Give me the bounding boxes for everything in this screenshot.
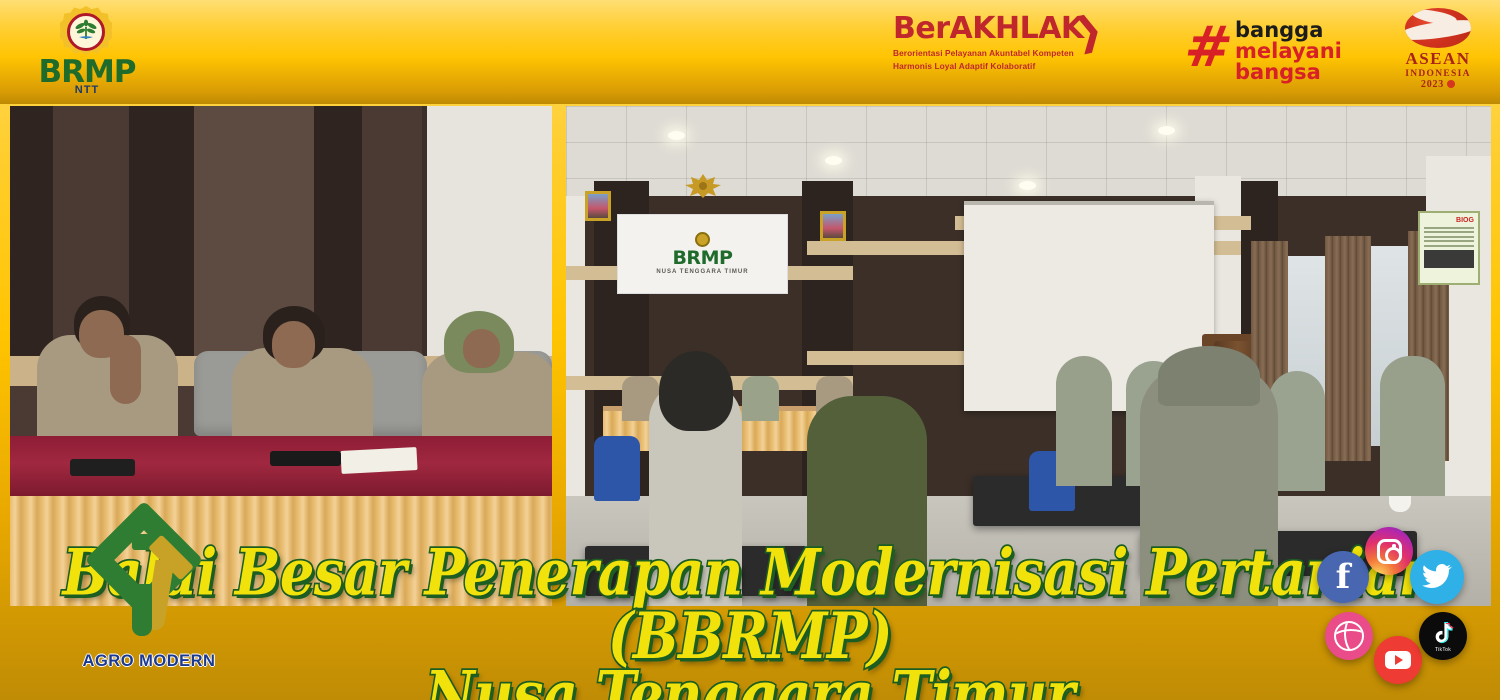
person-female-official-speaking [232,306,373,446]
documents [340,447,417,473]
asean-indonesia-logo: ASEAN INDONESIA 2023 [1388,8,1488,98]
berakhlak-ber: Ber [893,11,950,46]
phone-on-table [70,459,135,477]
head-table-person-3 [742,376,779,421]
bangga-line1: bangga [1235,20,1342,41]
person-female-official-hijab [422,311,552,446]
dribbble-glyph [1334,621,1364,651]
berakhlak-logo: BerAKHLAK ❯ Berorientasi Pelayanan Akunt… [893,12,1103,92]
person-male-official [37,296,178,446]
banner-subtitle: NUSA TENGGARA TIMUR [656,269,748,275]
asean-name: ASEAN [1388,49,1488,69]
curtain-2 [1325,236,1371,461]
foreground-person-cap-hat [1158,346,1260,406]
brmp-logo-subtitle: NTT [32,84,142,96]
wall-white-left [566,196,585,506]
agro-modern-mark-icon [86,512,210,638]
ceiling-light-2 [825,156,842,165]
tiktok-label: TikTok [1419,647,1467,653]
banner-seal-icon [695,232,710,247]
poster-title: BIOG [1424,217,1474,224]
audience-person-5 [1380,356,1445,496]
agro-modern-label: AGRO MODERN [64,652,234,671]
foreground-person-hijab [807,396,927,606]
facebook-icon[interactable]: f [1317,551,1369,603]
instagram-glyph [1377,539,1402,564]
audience-chair-1 [594,436,640,501]
asean-country: INDONESIA [1388,69,1488,79]
asean-year: 2023 [1388,79,1488,90]
audience-person-1 [1056,356,1112,486]
bangga-line3: bangsa [1235,62,1342,83]
instagram-icon[interactable] [1365,527,1413,575]
banner-title: BRMP [672,249,732,268]
foreground-person-left-hair [659,351,733,431]
twitter-bird-glyph [1422,564,1452,590]
bangga-lines: bangga melayani bangsa [1235,20,1342,83]
bangga-line2: melayani [1235,41,1342,62]
garuda-emblem-icon [682,171,724,199]
asean-dot-icon [1447,80,1455,88]
brmp-ntt-logo: BRMP NTT [22,4,148,100]
agro-modern-logo: AGRO MODERN [64,512,234,680]
tiktok-icon[interactable]: TikTok [1419,612,1467,660]
youtube-icon[interactable] [1374,636,1422,684]
dribbble-icon[interactable] [1325,612,1373,660]
backdrop-banner: BRMP NUSA TENGGARA TIMUR [617,214,788,294]
ceiling-light-1 [668,131,685,140]
microphone [270,451,340,466]
facebook-glyph: f [1336,557,1351,597]
berakhlak-wordmark: BerAKHLAK [893,12,1103,46]
asean-mark-icon [1405,8,1471,48]
banner-stage: BRMP NTT BerAKHLAK ❯ Berorientasi Pelaya… [0,0,1500,700]
tiktok-note-glyph [1432,622,1454,646]
photo-right-meeting-hall: BRMP NUSA TENGGARA TIMUR BIOG [566,106,1491,606]
hashtag-icon: # [1181,20,1236,76]
youtube-play-glyph [1385,651,1411,669]
plant-icon [74,18,98,40]
portrait-president [585,191,611,221]
wall-poster-biogas: BIOG [1418,211,1480,285]
bangga-melayani-bangsa-logo: # bangga melayani bangsa [1185,14,1355,92]
ceiling-light-4 [1158,126,1175,135]
twitter-icon[interactable] [1410,550,1464,604]
berakhlak-sub-line1: Berorientasi Pelayanan Akuntabel Kompete… [893,48,1103,59]
berakhlak-sub-line2: Harmonis Loyal Adaptif Kolaboratif [893,61,1103,72]
portrait-vice-president [820,211,846,241]
asean-year-value: 2023 [1421,79,1444,90]
header-bar: BRMP NTT BerAKHLAK ❯ Berorientasi Pelaya… [0,0,1500,104]
berakhlak-akhlak: AKHLAK [950,11,1084,46]
